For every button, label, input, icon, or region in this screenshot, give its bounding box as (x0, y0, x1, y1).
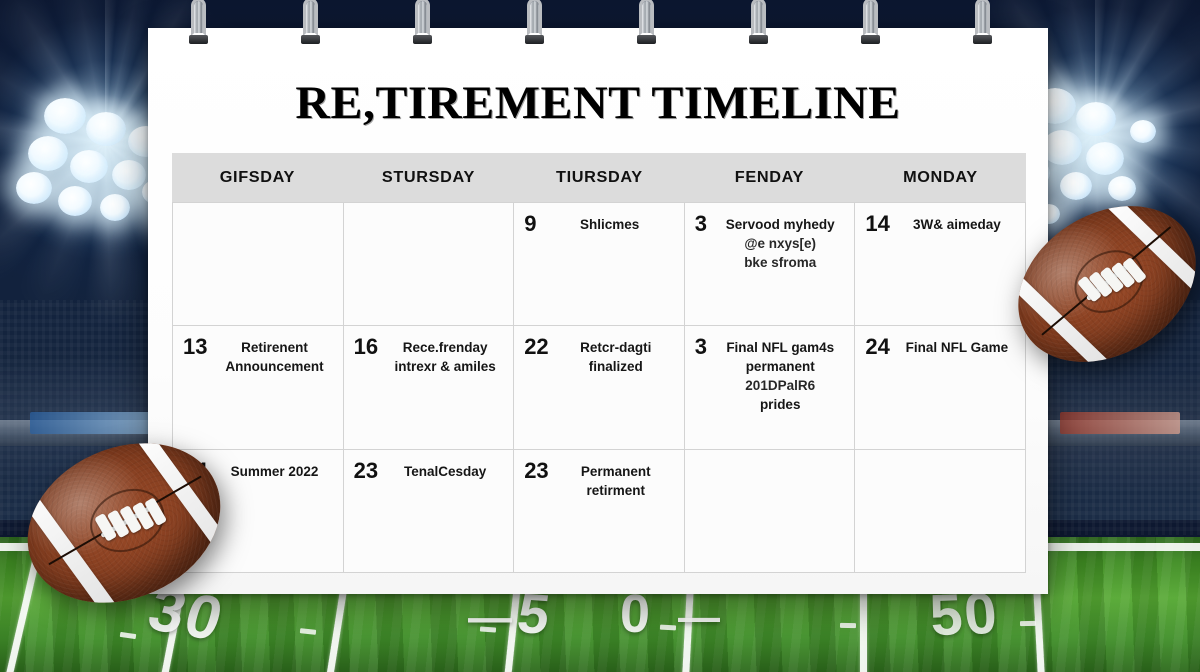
calendar-page: RE,TIREMENT TIMELINE GIFSDAY STURSDAY TI… (148, 28, 1048, 594)
calendar-week-row: 9 Shlicmes 3 Servood myhedy @e nxys[e) b… (172, 202, 1026, 326)
spiral-binding (148, 0, 1048, 52)
day-number: 3 (695, 335, 707, 358)
event-line: bke sfroma (714, 253, 846, 272)
day-cell[interactable] (855, 450, 1026, 573)
event-line: retirment (556, 481, 676, 500)
event-line: Announcement (214, 357, 334, 376)
day-events (190, 212, 335, 215)
day-cell[interactable]: 14 3W& aimeday (855, 202, 1026, 326)
day-number: 13 (183, 335, 207, 358)
calendar-week-row: 24 Summer 2022 23 TenalCesday 23 (172, 450, 1026, 573)
yard-dash-left: — (468, 593, 514, 643)
calendar-header-row: GIFSDAY STURSDAY TIURSDAY FENDAY MONDAY (172, 153, 1026, 202)
column-header-stursday: STURSDAY (339, 153, 518, 202)
event-line: Servood myhedy (714, 215, 846, 234)
ad-board-left (30, 412, 150, 434)
day-events: Shlicmes (543, 212, 675, 234)
day-number: 9 (524, 212, 536, 235)
day-events (361, 212, 506, 215)
event-line: Summer 2022 (214, 462, 334, 481)
event-line: 3W& aimeday (897, 215, 1017, 234)
day-number: 23 (524, 459, 548, 482)
event-line: Final NFL gam4s (714, 338, 846, 357)
event-line: Final NFL Game (897, 338, 1017, 357)
day-number: 3 (695, 212, 707, 235)
day-cell[interactable] (344, 202, 515, 326)
day-cell[interactable]: 23 TenalCesday (344, 450, 515, 573)
column-header-fenday: FENDAY (680, 153, 859, 202)
day-cell[interactable]: 3 Servood myhedy @e nxys[e) bke sfroma (685, 202, 856, 326)
day-events: Servood myhedy @e nxys[e) bke sfroma (714, 212, 846, 272)
day-cell[interactable]: 24 Final NFL Game (855, 326, 1026, 450)
day-events (872, 459, 1017, 462)
day-number: 22 (524, 335, 548, 358)
day-number: 23 (354, 459, 378, 482)
event-line: Retirenent (214, 338, 334, 357)
day-events: 3W& aimeday (897, 212, 1017, 234)
day-number: 24 (865, 335, 889, 358)
ad-board-right (1060, 412, 1180, 434)
column-header-gifsday: GIFSDAY (168, 153, 347, 202)
day-cell[interactable] (685, 450, 856, 573)
calendar-week-row: 13 Retirenent Announcement 16 Rece.frend… (172, 326, 1026, 450)
column-header-monday: MONDAY (851, 153, 1030, 202)
event-line: permanent (714, 357, 846, 376)
day-cell[interactable]: 22 Retcr-dagti finalized (514, 326, 685, 450)
day-cell[interactable]: 3 Final NFL gam4s permanent 201DPalR6 pr… (685, 326, 856, 450)
page-title: RE,TIREMENT TIMELINE (139, 76, 1057, 130)
day-events: Retirenent Announcement (214, 335, 334, 376)
column-header-tiursday: TIURSDAY (509, 153, 688, 202)
day-cell[interactable] (172, 202, 344, 326)
event-line: Permanent (556, 462, 676, 481)
event-line: intrexr & amiles (385, 357, 505, 376)
day-events: Retcr-dagti finalized (556, 335, 676, 376)
day-number: 14 (865, 212, 889, 235)
event-line: @e nxys[e) (714, 234, 846, 253)
event-line: 201DPalR6 (714, 376, 846, 395)
day-events: Summer 2022 (214, 459, 334, 481)
day-events: Permanent retirment (556, 459, 676, 500)
day-events: Final NFL gam4s permanent 201DPalR6 prid… (714, 335, 846, 415)
calendar-grid: GIFSDAY STURSDAY TIURSDAY FENDAY MONDAY (172, 153, 1026, 573)
day-events: TenalCesday (385, 459, 505, 481)
day-events: Rece.frenday intrexr & amiles (385, 335, 505, 376)
event-line: Shlicmes (543, 215, 675, 234)
event-line: finalized (556, 357, 676, 376)
event-line: prides (714, 395, 846, 414)
day-events: Final NFL Game (897, 335, 1017, 357)
day-cell[interactable]: 16 Rece.frenday intrexr & amiles (344, 326, 515, 450)
event-line: Rece.frenday (385, 338, 505, 357)
event-line: Retcr-dagti (556, 338, 676, 357)
day-number: 16 (354, 335, 378, 358)
day-cell[interactable]: 13 Retirenent Announcement (172, 326, 344, 450)
yard-dash-right: — (678, 593, 722, 641)
event-line: TenalCesday (385, 462, 505, 481)
day-cell[interactable]: 9 Shlicmes (514, 202, 685, 326)
day-cell[interactable]: 23 Permanent retirment (514, 450, 685, 573)
day-events (702, 459, 847, 462)
